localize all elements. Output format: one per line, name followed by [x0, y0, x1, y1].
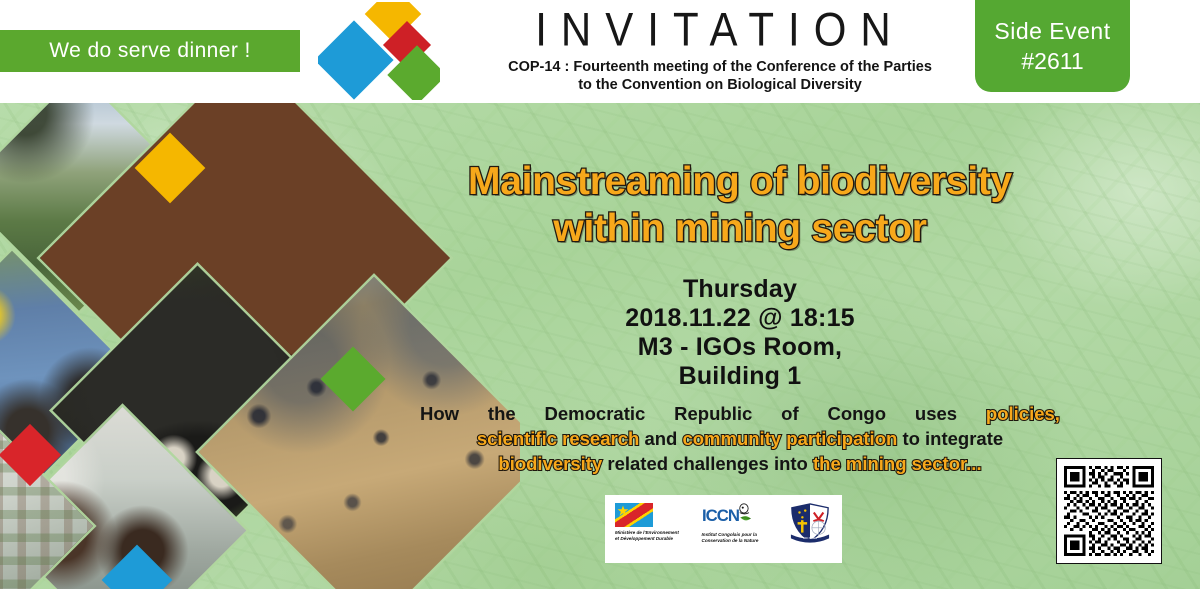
iccn-icon: ICCN — [702, 503, 754, 529]
iccn-caption: Institut Congolais pour la Conservation … — [702, 532, 766, 544]
desc-highlight-biodiversity: biodiversity — [498, 453, 602, 474]
dinner-banner-label: We do serve dinner ! — [49, 39, 250, 63]
svg-text:ICCN: ICCN — [702, 506, 739, 525]
dinner-banner: We do serve dinner ! — [0, 30, 300, 72]
desc-word: the — [488, 401, 516, 426]
event-building: Building 1 — [460, 362, 1020, 391]
page-title: INVITATION — [470, 4, 970, 56]
event-room: M3 - IGOs Room, — [460, 333, 1020, 362]
desc-word: Democratic — [545, 401, 646, 426]
desc-word: to integrate — [902, 428, 1003, 449]
svg-text:RDC MINES: RDC MINES — [803, 537, 817, 540]
side-event-label: Side Event — [994, 16, 1110, 46]
invitation-poster: Mainstreaming of biodiversity within min… — [0, 0, 1200, 589]
description-line-2: scientific research and community partic… — [410, 426, 1070, 451]
event-day: Thursday — [460, 275, 1020, 304]
desc-word: Republic — [674, 401, 752, 426]
desc-highlight-participation: community participation — [682, 428, 897, 449]
drc-ministry-logo: Ministère de l'Environnement et Développ… — [615, 503, 679, 542]
content-area: Mainstreaming of biodiversity within min… — [400, 103, 1200, 589]
cbd-diamond-logo — [318, 2, 440, 100]
cop-subtitle: COP-14 : Fourteenth meeting of the Confe… — [440, 58, 1000, 94]
desc-word: How — [420, 401, 459, 426]
drc-ministry-caption: Ministère de l'Environnement et Développ… — [615, 530, 679, 542]
side-event-number: #2611 — [1021, 46, 1083, 76]
event-description: How the Democratic Republic of Congo use… — [410, 401, 1070, 476]
desc-highlight-policies: policies, — [986, 401, 1060, 426]
poster-header: We do serve dinner ! INVITATION COP-14 :… — [0, 0, 1200, 103]
event-title-line2: within mining sector — [400, 205, 1080, 252]
event-datetime-block: Thursday 2018.11.22 @ 18:15 M3 - IGOs Ro… — [460, 275, 1020, 391]
cop-subtitle-line2: to the Convention on Biological Diversit… — [440, 76, 1000, 94]
side-event-badge: Side Event #2611 — [975, 0, 1130, 92]
iccn-logo: ICCN Institut Congolais pour la Conserva… — [702, 503, 766, 544]
qr-code[interactable] — [1056, 458, 1162, 564]
desc-highlight-mining: the mining sector... — [813, 453, 982, 474]
desc-highlight-research: scientific research — [477, 428, 639, 449]
drc-flag-icon — [615, 503, 653, 527]
desc-word: and — [644, 428, 677, 449]
event-title-line1: Mainstreaming of biodiversity — [400, 158, 1080, 205]
cop-subtitle-line1: COP-14 : Fourteenth meeting of the Confe… — [440, 58, 1000, 76]
desc-word: uses — [915, 401, 957, 426]
description-line-1: How the Democratic Republic of Congo use… — [420, 401, 1060, 426]
crest-icon: RDC MINES — [788, 503, 832, 545]
event-title: Mainstreaming of biodiversity within min… — [400, 158, 1080, 252]
desc-word: Congo — [827, 401, 886, 426]
event-datetime: 2018.11.22 @ 18:15 — [460, 304, 1020, 333]
description-line-3: biodiversity related challenges into the… — [410, 451, 1070, 476]
qr-code-pattern — [1064, 466, 1154, 556]
crest-logo: RDC MINES — [788, 503, 832, 545]
desc-word: of — [781, 401, 798, 426]
partner-logos: Ministère de l'Environnement et Développ… — [605, 495, 842, 563]
desc-word: related challenges into — [607, 453, 807, 474]
